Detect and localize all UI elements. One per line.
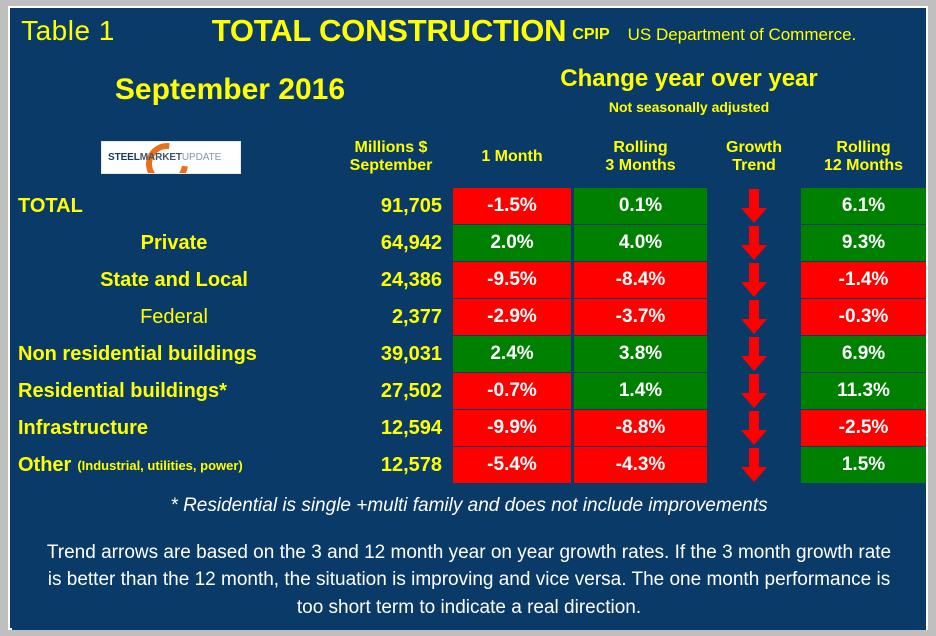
row-value-cell: 2,377 bbox=[332, 299, 450, 335]
row-value-cell: 64,942 bbox=[332, 225, 450, 261]
change-header-title: Change year over year bbox=[560, 65, 817, 93]
column-header-rolling-12-line1: Rolling bbox=[836, 139, 890, 157]
period-label: September 2016 bbox=[12, 56, 448, 124]
column-header-rolling-3-line2: 3 Months bbox=[605, 157, 675, 175]
logo-word-market: MARKET bbox=[140, 152, 182, 163]
row-label-cell: Residential buildings* bbox=[12, 373, 330, 409]
change-header: Change year over year Not seasonally adj… bbox=[452, 56, 926, 124]
footnote-residential: * Residential is single +multi family an… bbox=[12, 484, 926, 528]
down-arrow-icon bbox=[741, 300, 767, 334]
row-value-cell: 39,031 bbox=[332, 336, 450, 372]
column-header-one-month: 1 Month bbox=[453, 130, 571, 184]
row-rolling-3-cell: 1.4% bbox=[574, 373, 707, 409]
row-rolling-12-cell: 6.9% bbox=[801, 336, 926, 372]
change-header-subtitle: Not seasonally adjusted bbox=[609, 99, 769, 115]
row-label: Residential buildings* bbox=[18, 380, 227, 403]
row-label: State and Local bbox=[100, 269, 248, 292]
row-label: TOTAL bbox=[18, 195, 83, 218]
footnote-trend-arrows: Trend arrows are based on the 3 and 12 m… bbox=[12, 530, 926, 630]
table-number-label: Table 1 bbox=[12, 10, 124, 52]
down-arrow-icon bbox=[741, 411, 767, 445]
logo-word-update: UPDATE bbox=[182, 152, 221, 163]
row-label-cell: Federal bbox=[12, 299, 330, 335]
row-label: Non residential buildings bbox=[18, 343, 257, 366]
row-value-cell: 27,502 bbox=[332, 373, 450, 409]
row-label: Infrastructure bbox=[18, 417, 148, 440]
logo-word-steel: STEEL bbox=[108, 152, 140, 163]
row-rolling-3-cell: -8.8% bbox=[574, 410, 707, 446]
row-rolling-3-cell: -4.3% bbox=[574, 447, 707, 483]
column-header-rolling-12-line2: 12 Months bbox=[824, 157, 903, 175]
column-header-rolling-3: Rolling 3 Months bbox=[574, 130, 707, 184]
row-rolling-12-cell: 9.3% bbox=[801, 225, 926, 261]
row-label-cell: Infrastructure bbox=[12, 410, 330, 446]
row-rolling-3-cell: 3.8% bbox=[574, 336, 707, 372]
steel-market-update-logo: STEELMARKETUPDATE bbox=[101, 141, 241, 174]
down-arrow-icon bbox=[741, 263, 767, 297]
row-label-cell: TOTAL bbox=[12, 188, 330, 224]
title-suffix-cpip: CPIP bbox=[572, 26, 609, 44]
column-header-growth-trend-line1: Growth bbox=[726, 139, 782, 157]
down-arrow-icon bbox=[741, 337, 767, 371]
row-one-month-cell: -9.9% bbox=[453, 410, 571, 446]
row-rolling-12-cell: 11.3% bbox=[801, 373, 926, 409]
row-rolling-12-cell: -2.5% bbox=[801, 410, 926, 446]
row-label: Private bbox=[141, 232, 208, 255]
row-value-cell: 91,705 bbox=[332, 188, 450, 224]
row-one-month-cell: -9.5% bbox=[453, 262, 571, 298]
row-rolling-12-cell: -0.3% bbox=[801, 299, 926, 335]
footnote-trend-arrows-text: Trend arrows are based on the 3 and 12 m… bbox=[38, 539, 900, 622]
row-one-month-cell: -0.7% bbox=[453, 373, 571, 409]
row-rolling-12-cell: 6.1% bbox=[801, 188, 926, 224]
column-header-value-line1: Millions $ bbox=[355, 139, 428, 157]
row-rolling-12-cell: -1.4% bbox=[801, 262, 926, 298]
row-sublabel: (Industrial, utilities, power) bbox=[77, 458, 242, 473]
row-rolling-3-cell: -8.4% bbox=[574, 262, 707, 298]
row-label-cell: State and Local bbox=[12, 262, 330, 298]
row-rolling-3-cell: 0.1% bbox=[574, 188, 707, 224]
column-header-value: Millions $ September bbox=[332, 130, 450, 184]
row-growth-trend-cell bbox=[710, 447, 798, 483]
column-header-one-month-label: 1 Month bbox=[481, 148, 542, 166]
down-arrow-icon bbox=[741, 189, 767, 223]
row-one-month-cell: -2.9% bbox=[453, 299, 571, 335]
row-label-cell: Non residential buildings bbox=[12, 336, 330, 372]
row-rolling-3-cell: 4.0% bbox=[574, 225, 707, 261]
logo-wordmark: STEELMARKETUPDATE bbox=[108, 152, 221, 163]
row-growth-trend-cell bbox=[710, 410, 798, 446]
column-header-growth-trend-line2: Trend bbox=[732, 157, 776, 175]
row-growth-trend-cell bbox=[710, 188, 798, 224]
row-growth-trend-cell bbox=[710, 299, 798, 335]
source-agency-label: US Department of Commerce. bbox=[628, 25, 857, 45]
row-one-month-cell: 2.4% bbox=[453, 336, 571, 372]
row-label-cell: Private bbox=[12, 225, 330, 261]
column-header-value-line2: September bbox=[350, 157, 433, 175]
row-growth-trend-cell bbox=[710, 225, 798, 261]
row-one-month-cell: -1.5% bbox=[453, 188, 571, 224]
main-title: TOTAL CONSTRUCTION CPIP US Department of… bbox=[128, 10, 926, 52]
table-frame: Table 1 TOTAL CONSTRUCTION CPIP US Depar… bbox=[0, 0, 936, 636]
down-arrow-icon bbox=[741, 226, 767, 260]
table-sheet: Table 1 TOTAL CONSTRUCTION CPIP US Depar… bbox=[8, 6, 928, 630]
row-growth-trend-cell bbox=[710, 373, 798, 409]
down-arrow-icon bbox=[741, 374, 767, 408]
column-header-rolling-3-line1: Rolling bbox=[613, 139, 667, 157]
row-value-cell: 12,594 bbox=[332, 410, 450, 446]
row-rolling-12-cell: 1.5% bbox=[801, 447, 926, 483]
row-label: Other bbox=[18, 454, 71, 477]
row-value-cell: 12,578 bbox=[332, 447, 450, 483]
row-rolling-3-cell: -3.7% bbox=[574, 299, 707, 335]
row-one-month-cell: 2.0% bbox=[453, 225, 571, 261]
column-header-growth-trend: Growth Trend bbox=[710, 130, 798, 184]
down-arrow-icon bbox=[741, 448, 767, 482]
row-growth-trend-cell bbox=[710, 262, 798, 298]
column-header-rolling-12: Rolling 12 Months bbox=[801, 130, 926, 184]
row-value-cell: 24,386 bbox=[332, 262, 450, 298]
row-label-cell: Other(Industrial, utilities, power) bbox=[12, 447, 330, 483]
row-growth-trend-cell bbox=[710, 336, 798, 372]
main-title-text: TOTAL CONSTRUCTION bbox=[212, 13, 567, 49]
row-one-month-cell: -5.4% bbox=[453, 447, 571, 483]
brand-logo-cell: STEELMARKETUPDATE bbox=[12, 130, 330, 184]
row-label: Federal bbox=[140, 306, 208, 329]
